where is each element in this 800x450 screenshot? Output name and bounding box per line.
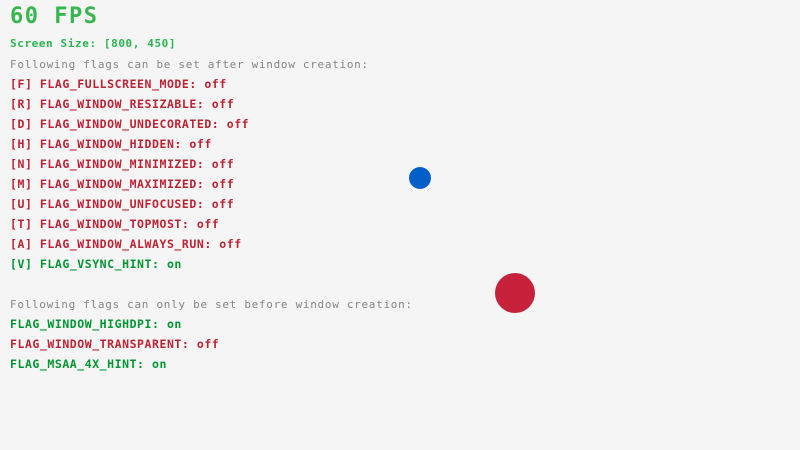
flag-flag-window-undecorated[interactable]: [D] FLAG_WINDOW_UNDECORATED: off xyxy=(10,118,249,130)
flag-flag-window-highdpi[interactable]: FLAG_WINDOW_HIGHDPI: on xyxy=(10,318,182,330)
screen-size-label: Screen Size: [800, 450] xyxy=(10,38,176,50)
section-heading-after-creation: Following flags can be set after window … xyxy=(10,59,369,71)
flag-flag-msaa-4x-hint[interactable]: FLAG_MSAA_4X_HINT: on xyxy=(10,358,167,370)
flag-flag-fullscreen-mode[interactable]: [F] FLAG_FULLSCREEN_MODE: off xyxy=(10,78,227,90)
ball-red-circle xyxy=(495,273,535,313)
section-heading-before-creation: Following flags can only be set before w… xyxy=(10,299,413,311)
flag-flag-window-unfocused[interactable]: [U] FLAG_WINDOW_UNFOCUSED: off xyxy=(10,198,234,210)
flag-flag-window-topmost[interactable]: [T] FLAG_WINDOW_TOPMOST: off xyxy=(10,218,219,230)
flag-flag-vsync-hint[interactable]: [V] FLAG_VSYNC_HINT: on xyxy=(10,258,182,270)
flag-flag-window-resizable[interactable]: [R] FLAG_WINDOW_RESIZABLE: off xyxy=(10,98,234,110)
fps-counter: 60 FPS xyxy=(10,6,98,28)
flag-flag-window-hidden[interactable]: [H] FLAG_WINDOW_HIDDEN: off xyxy=(10,138,212,150)
raylib-window-canvas[interactable]: 60 FPS Screen Size: [800, 450] Following… xyxy=(0,0,800,450)
flag-flag-window-maximized[interactable]: [M] FLAG_WINDOW_MAXIMIZED: off xyxy=(10,178,234,190)
flag-flag-window-transparent[interactable]: FLAG_WINDOW_TRANSPARENT: off xyxy=(10,338,219,350)
flag-flag-window-always-run[interactable]: [A] FLAG_WINDOW_ALWAYS_RUN: off xyxy=(10,238,242,250)
ball-blue-circle xyxy=(409,167,431,189)
flag-flag-window-minimized[interactable]: [N] FLAG_WINDOW_MINIMIZED: off xyxy=(10,158,234,170)
